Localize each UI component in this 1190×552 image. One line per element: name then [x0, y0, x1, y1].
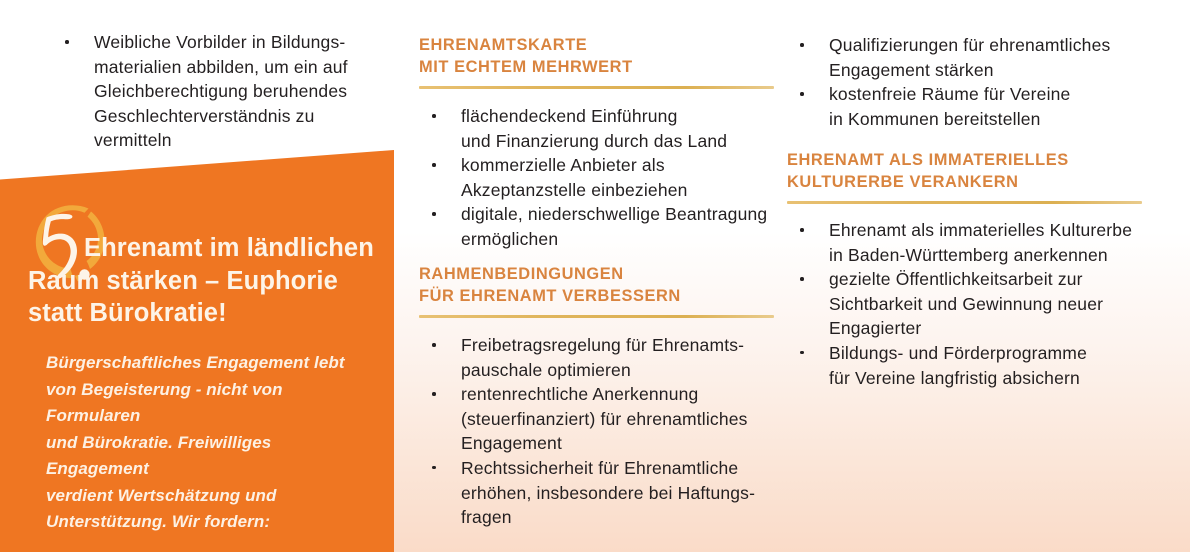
list-item: Ehrenamt als immaterielles Kulturerbe in… [787, 218, 1157, 267]
list-item: rentenrechtliche Anerkennung (steuerfina… [419, 382, 779, 456]
list-item-label: Qualifizierungen für ehrenamtliches Enga… [829, 33, 1157, 82]
section-heading-kulturerbe: EHRENAMT ALS IMMATERIELLES KULTURERBE VE… [787, 149, 1157, 193]
highlight-panel: Ehrenamt im ländlichen Raum stärken – Eu… [0, 150, 394, 552]
list-item: Weibliche Vorbilder in Bildungs- materia… [52, 30, 392, 153]
panel-body-text: Bürgerschaftliches Engagement lebt von B… [46, 350, 376, 536]
bullet-dot-icon [432, 466, 436, 470]
middle-column-bullets-2: Freibetragsregelung für Ehrenamts- pausc… [419, 333, 779, 530]
list-item-label: rentenrechtliche Anerkennung (steuerfina… [461, 382, 779, 456]
list-item-label: Rechtssicherheit für Ehrenamtliche erhöh… [461, 456, 779, 530]
list-item: Rechtssicherheit für Ehrenamtliche erhöh… [419, 456, 779, 530]
list-item-label: Freibetragsregelung für Ehrenamts- pausc… [461, 333, 779, 382]
highlight-panel-inner: Ehrenamt im ländlichen Raum stärken – Eu… [0, 150, 394, 552]
bullet-dot-icon [432, 163, 436, 167]
bullet-dot-icon [432, 114, 436, 118]
list-item: gezielte Öffentlichkeitsarbeit zur Sicht… [787, 267, 1157, 341]
list-item: Bildungs- und Förderprogramme für Verein… [787, 341, 1157, 390]
bullet-dot-icon [800, 277, 804, 281]
list-item-label: flächendeckend Einführung und Finanzieru… [461, 104, 779, 153]
list-item-label: digitale, niederschwellige Beantragung e… [461, 202, 779, 251]
bullet-dot-icon [432, 212, 436, 216]
list-item: digitale, niederschwellige Beantragung e… [419, 202, 779, 251]
list-item-label: Bildungs- und Förderprogramme für Verein… [829, 341, 1157, 390]
section-rule [787, 201, 1142, 204]
right-column-bullets: Ehrenamt als immaterielles Kulturerbe in… [787, 218, 1157, 390]
section-rule [419, 315, 774, 318]
list-item-label: kostenfreie Räume für Vereine in Kommune… [829, 82, 1157, 131]
right-column-top-bullets: Qualifizierungen für ehrenamtliches Enga… [787, 33, 1157, 131]
list-item: kostenfreie Räume für Vereine in Kommune… [787, 82, 1157, 131]
list-item: kommerzielle Anbieter als Akzeptanzstell… [419, 153, 779, 202]
list-item: flächendeckend Einführung und Finanzieru… [419, 104, 779, 153]
list-item-label: Weibliche Vorbilder in Bildungs- materia… [94, 30, 392, 153]
bullet-dot-icon [800, 351, 804, 355]
bullet-dot-icon [65, 40, 69, 44]
left-column-bullets: Weibliche Vorbilder in Bildungs- materia… [52, 30, 392, 153]
section-rule [419, 86, 774, 89]
section-heading-rahmenbedingungen: RAHMENBEDINGUNGEN FÜR EHRENAMT VERBESSER… [419, 263, 779, 307]
list-item: Freibetragsregelung für Ehrenamts- pausc… [419, 333, 779, 382]
list-item: Qualifizierungen für ehrenamtliches Enga… [787, 33, 1157, 82]
middle-column-bullets-1: flächendeckend Einführung und Finanzieru… [419, 104, 779, 252]
bullet-dot-icon [800, 92, 804, 96]
bullet-dot-icon [800, 43, 804, 47]
panel-title: Ehrenamt im ländlichen Raum stärken – Eu… [28, 232, 380, 330]
poster-page: Weibliche Vorbilder in Bildungs- materia… [0, 0, 1190, 552]
list-item-label: kommerzielle Anbieter als Akzeptanzstell… [461, 153, 779, 202]
list-item-label: Ehrenamt als immaterielles Kulturerbe in… [829, 218, 1157, 267]
list-item-label: gezielte Öffentlichkeitsarbeit zur Sicht… [829, 267, 1157, 341]
bullet-dot-icon [800, 228, 804, 232]
bullet-dot-icon [432, 343, 436, 347]
bullet-dot-icon [432, 392, 436, 396]
section-heading-ehrenamtskarte: EHRENAMTSKARTE MIT ECHTEM MEHRWERT [419, 34, 779, 78]
